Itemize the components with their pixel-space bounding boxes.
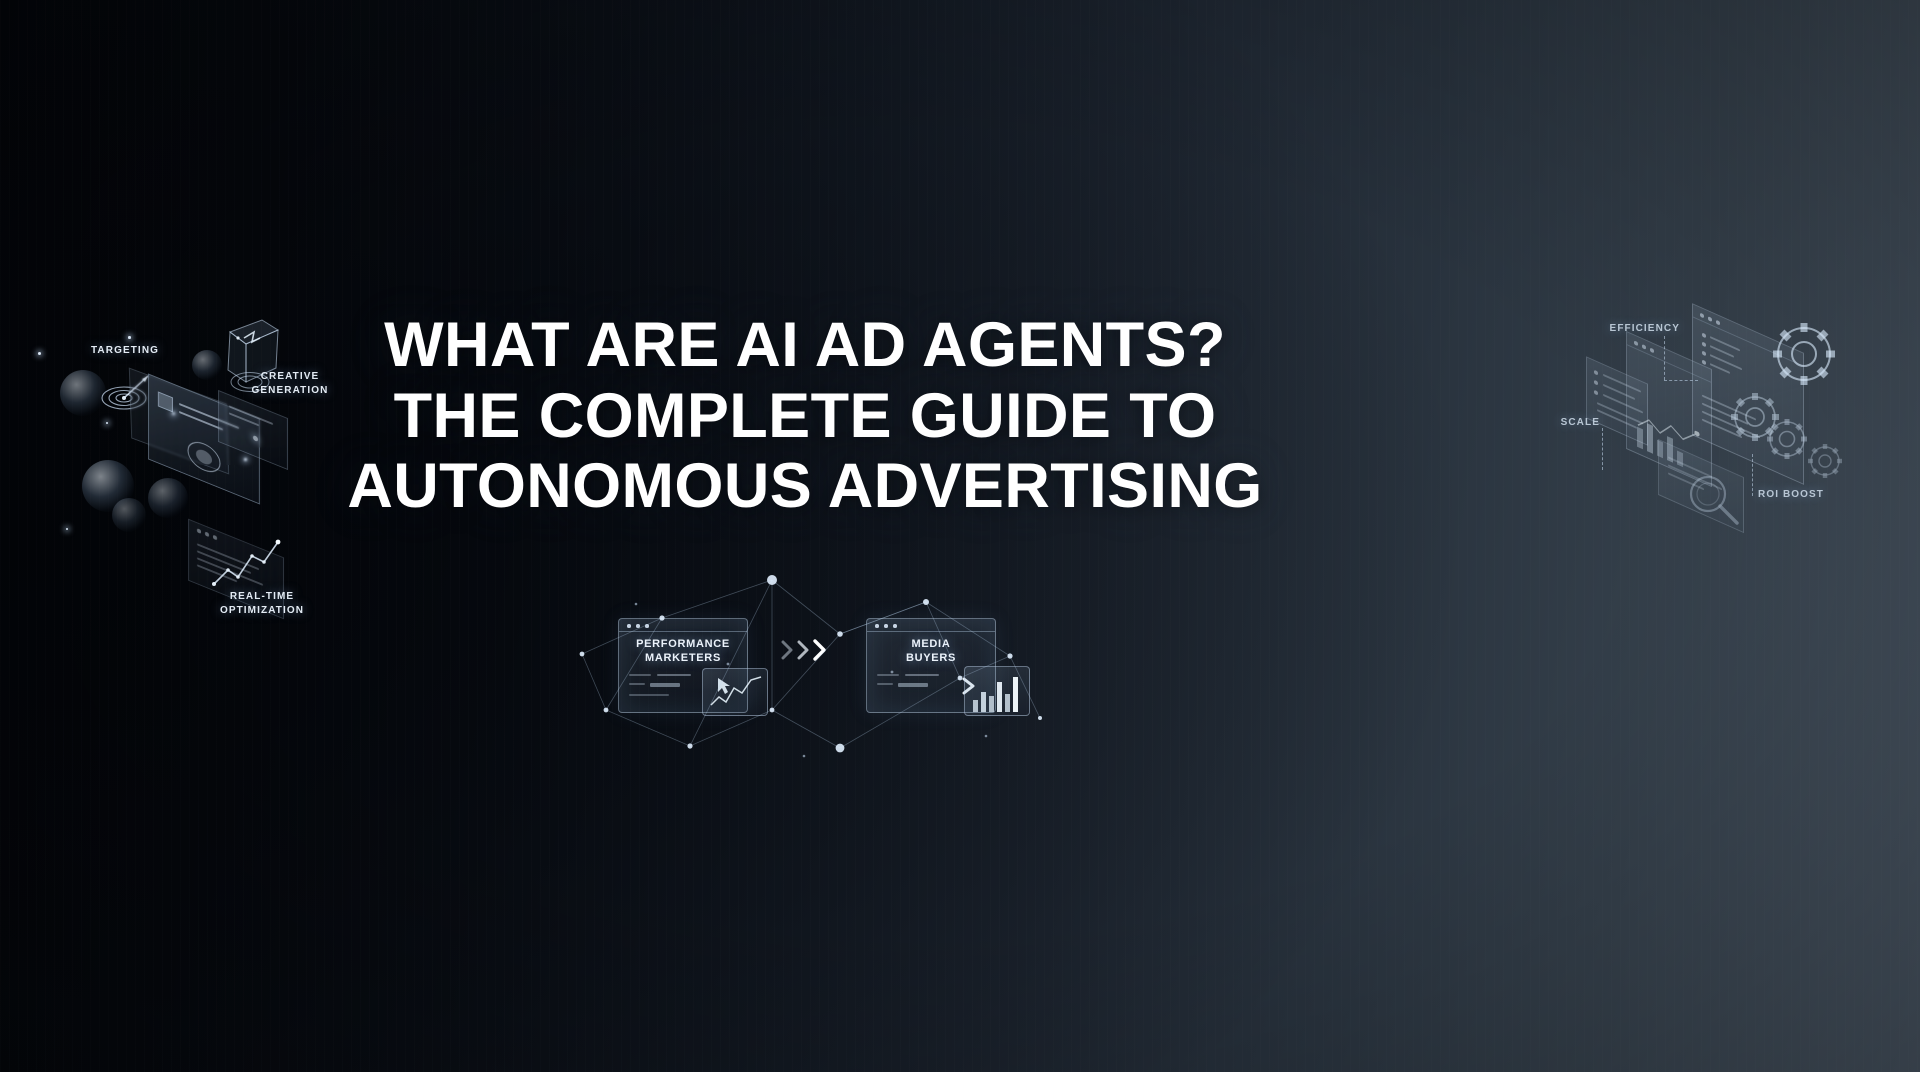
label-roi-boost: ROI BOOST xyxy=(1758,488,1854,502)
spark-dot xyxy=(66,528,68,530)
magnifier-icon xyxy=(1682,468,1746,532)
connector-line-scale xyxy=(1602,428,1603,470)
panel-bullet xyxy=(1702,360,1706,365)
panel-text-line xyxy=(229,412,259,426)
label-efficiency: EFFICIENCY xyxy=(1580,322,1680,336)
headline-line-3: AUTONOMOUS ADVERTISING xyxy=(300,451,1310,522)
network-constellation xyxy=(540,560,1060,770)
panel-bullet xyxy=(1594,390,1598,395)
trend-up-icon xyxy=(208,536,284,594)
hero-banner-stage: TARGETING CREATIVE GENERATION xyxy=(0,0,1920,1072)
label-scale: SCALE xyxy=(1522,416,1600,430)
page-title: WHAT ARE AI AD AGENTS? THE COMPLETE GUID… xyxy=(300,310,1310,522)
label-targeting: TARGETING xyxy=(70,344,180,358)
spark-dot xyxy=(253,435,258,442)
glow-orb xyxy=(112,498,146,532)
headline-line-2: THE COMPLETE GUIDE TO xyxy=(300,381,1310,452)
panel-bullet xyxy=(1702,342,1706,347)
panel-thumb xyxy=(158,391,173,412)
panel-bullet xyxy=(1702,333,1706,338)
label-real-time-optimization: REAL-TIME OPTIMIZATION xyxy=(198,590,326,617)
window-dot xyxy=(197,528,201,533)
spark-dot xyxy=(128,336,131,339)
spark-dot xyxy=(38,352,41,355)
panel-bullet xyxy=(1594,370,1598,375)
bottom-graphic-cluster: PERFORMANCE MARKETERS xyxy=(540,560,1060,770)
glow-orb xyxy=(148,478,188,518)
panel-bullet xyxy=(1594,380,1598,385)
gear-icon xyxy=(1768,318,1840,390)
right-graphic-cluster: EFFICIENCY SCALE ROI BOOST xyxy=(1540,310,1920,560)
panel-bullet xyxy=(1702,351,1706,356)
panel-text-line xyxy=(1710,363,1730,374)
panel-text-line xyxy=(1710,354,1742,370)
headline-line-1: WHAT ARE AI AD AGENTS? xyxy=(300,310,1310,381)
gear-icon xyxy=(1804,440,1846,482)
